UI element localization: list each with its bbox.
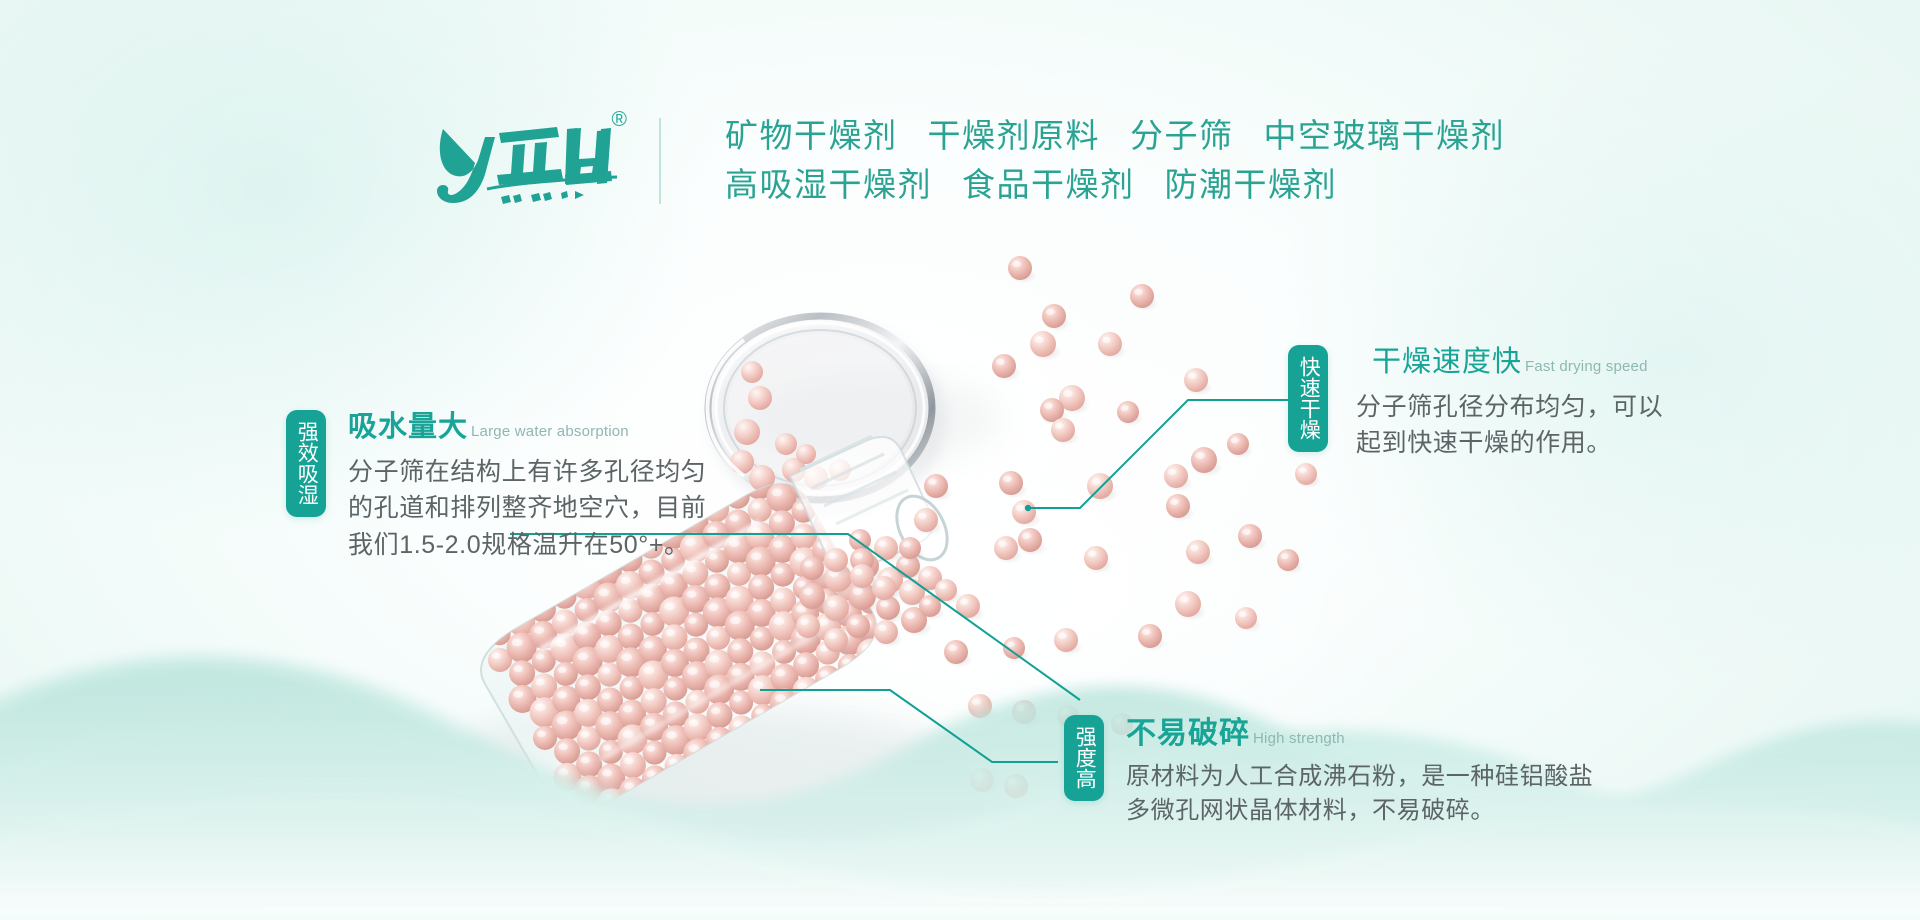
callout-body: 不易破碎 High strength 原材料为人工合成沸石粉，是一种硅铝酸盐 多… xyxy=(1120,715,1593,828)
leader-dot-speed xyxy=(1025,505,1031,511)
nav-item-insulating-glass-desiccant[interactable]: 中空玻璃干燥剂 xyxy=(1264,118,1506,155)
callout-large-water-absorption: 强效吸湿 吸水量大 Large water absorption 分子筛在结构上… xyxy=(286,410,706,563)
callout-title-en: Large water absorption xyxy=(471,424,629,441)
brand-logo[interactable]: ® xyxy=(415,107,625,215)
callout-title-cn: 干燥速度快 xyxy=(1372,347,1522,379)
site-header: ® 矿物干燥剂 干燥剂原料 分子筛 中空玻璃干燥剂 高吸湿干燥剂 食品干燥剂 防… xyxy=(0,0,1920,270)
nav-item-desiccant-raw-material[interactable]: 干燥剂原料 xyxy=(928,118,1101,155)
callout-body: 吸水量大 Large water absorption 分子筛在结构上有许多孔径… xyxy=(342,410,706,563)
callout-title-cn: 吸水量大 xyxy=(348,412,468,444)
callout-title: 不易破碎 High strength xyxy=(1126,717,1593,750)
callout-title: 吸水量大 Large water absorption xyxy=(348,412,706,444)
nav-item-molecular-sieve[interactable]: 分子筛 xyxy=(1130,118,1234,155)
badge-strong-absorption[interactable]: 强效吸湿 xyxy=(286,410,326,517)
header-divider xyxy=(659,118,661,204)
callout-description: 原材料为人工合成沸石粉，是一种硅铝酸盐 多微孔网状晶体材料，不易破碎。 xyxy=(1126,760,1593,828)
badge-fast-drying[interactable]: 快速干燥 xyxy=(1288,345,1328,452)
badge-high-strength[interactable]: 强度高 xyxy=(1064,715,1104,801)
nav-line-1: 矿物干燥剂 干燥剂原料 分子筛 中空玻璃干燥剂 xyxy=(725,118,1505,155)
yaao-logo-icon xyxy=(435,111,625,211)
nav-item-moisture-proof-desiccant[interactable]: 防潮干燥剂 xyxy=(1165,167,1338,204)
nav-line-2: 高吸湿干燥剂 食品干燥剂 防潮干燥剂 xyxy=(725,167,1505,204)
callout-title: 干燥速度快 Fast drying speed xyxy=(1356,347,1663,379)
header-keyword-nav: 矿物干燥剂 干燥剂原料 分子筛 中空玻璃干燥剂 高吸湿干燥剂 食品干燥剂 防潮干… xyxy=(695,118,1505,204)
registered-trademark-icon: ® xyxy=(612,109,627,130)
callout-description: 分子筛在结构上有许多孔径均匀 的孔道和排列整齐地空穴，目前 我们1.5-2.0规… xyxy=(348,454,706,564)
callout-body: 干燥速度快 Fast drying speed 分子筛孔径分布均匀，可以 起到快… xyxy=(1344,345,1663,462)
callout-title-en: Fast drying speed xyxy=(1525,359,1648,376)
callout-title-en: High strength xyxy=(1253,731,1345,748)
callout-description: 分子筛孔径分布均匀，可以 起到快速干燥的作用。 xyxy=(1356,389,1663,462)
banner-canvas: ® 矿物干燥剂 干燥剂原料 分子筛 中空玻璃干燥剂 高吸湿干燥剂 食品干燥剂 防… xyxy=(0,0,1920,920)
nav-item-high-moisture-desiccant[interactable]: 高吸湿干燥剂 xyxy=(725,167,932,204)
nav-item-food-desiccant[interactable]: 食品干燥剂 xyxy=(962,167,1135,204)
callout-high-strength: 强度高 不易破碎 High strength 原材料为人工合成沸石粉，是一种硅铝… xyxy=(1064,715,1593,828)
nav-item-mineral-desiccant[interactable]: 矿物干燥剂 xyxy=(725,118,898,155)
callout-title-cn: 不易破碎 xyxy=(1126,717,1250,750)
callout-fast-drying-speed: 快速干燥 干燥速度快 Fast drying speed 分子筛孔径分布均匀，可… xyxy=(1288,345,1663,462)
